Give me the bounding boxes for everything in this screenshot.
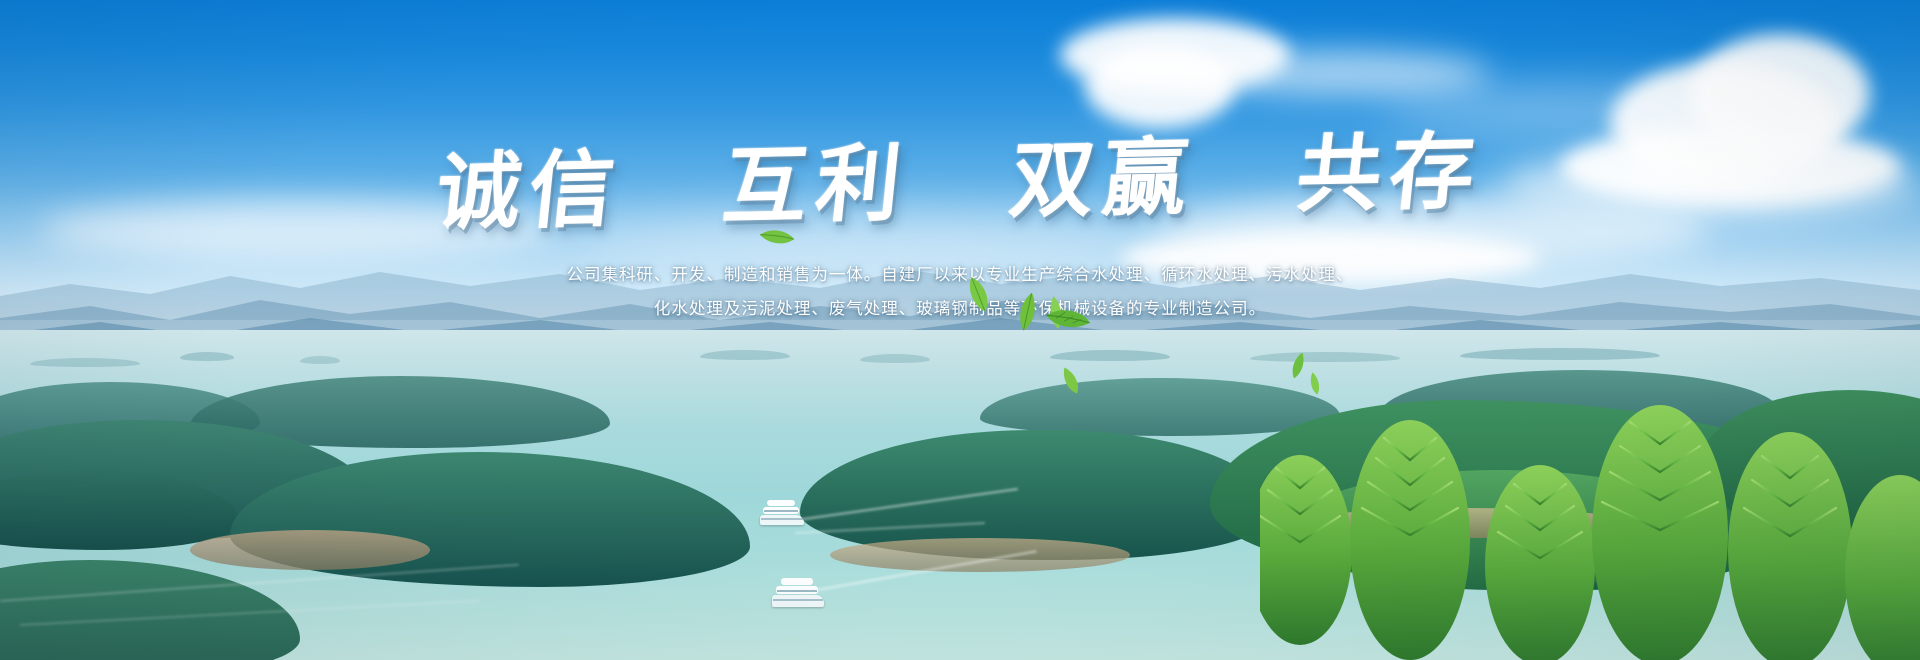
headline-word-2: 互利 — [719, 133, 914, 236]
headline-word-4: 共存 — [1293, 121, 1488, 224]
boat-lower-top-deck — [781, 578, 813, 585]
islet-far-6 — [1250, 352, 1400, 362]
headline-gap-1 — [657, 217, 683, 218]
boat-upper-hull — [760, 515, 804, 525]
islet-far-5 — [1050, 350, 1170, 361]
banner-subtitle: 公司集科研、开发、制造和销售为一体。自建厂以来以专业生产综合水处理、循环水处理、… — [0, 258, 1920, 326]
cloud-left-tail — [1190, 50, 1490, 96]
islet-far-1 — [180, 352, 234, 361]
islet-far-3 — [700, 350, 790, 360]
islet-far-2 — [300, 356, 340, 364]
islet-far-7 — [1460, 348, 1660, 360]
islet-far-4 — [860, 354, 930, 363]
boat-upper-hull-band — [761, 518, 803, 520]
island-center-right-shore — [830, 538, 1130, 572]
boat-upper-top-deck — [767, 500, 795, 506]
headline-word-3: 双赢 — [1006, 127, 1201, 230]
tour-boat-upper — [760, 500, 804, 530]
cloud-left-puff-2 — [1085, 46, 1235, 128]
island-right-shore — [1300, 508, 1630, 538]
boat-lower-window-band — [777, 590, 817, 592]
banner-copy: 诚信 互利 双赢 共存 公司集科研、开发、制造和销售为一体。自建厂以来以专业生产… — [0, 140, 1920, 326]
islet-far-8 — [30, 358, 140, 367]
headline-gap-3 — [1231, 205, 1257, 206]
boat-lower-hull — [772, 595, 824, 607]
boat-upper-window-band — [764, 510, 798, 512]
subtitle-line-1: 公司集科研、开发、制造和销售为一体。自建厂以来以专业生产综合水处理、循环水处理、… — [0, 258, 1920, 292]
headline-gap-2 — [944, 211, 970, 212]
boat-lower-hull-band — [773, 599, 823, 601]
island-center-spit — [190, 530, 430, 570]
banner-headline: 诚信 互利 双赢 共存 — [433, 129, 1487, 235]
headline-word-1: 诚信 — [432, 139, 627, 242]
subtitle-line-2: 化水处理及污泥处理、废气处理、玻璃钢制品等环保机械设备的专业制造公司。 — [0, 292, 1920, 326]
tour-boat-lower — [772, 578, 824, 612]
hero-banner: 诚信 互利 双赢 共存 公司集科研、开发、制造和销售为一体。自建厂以来以专业生产… — [0, 0, 1920, 660]
